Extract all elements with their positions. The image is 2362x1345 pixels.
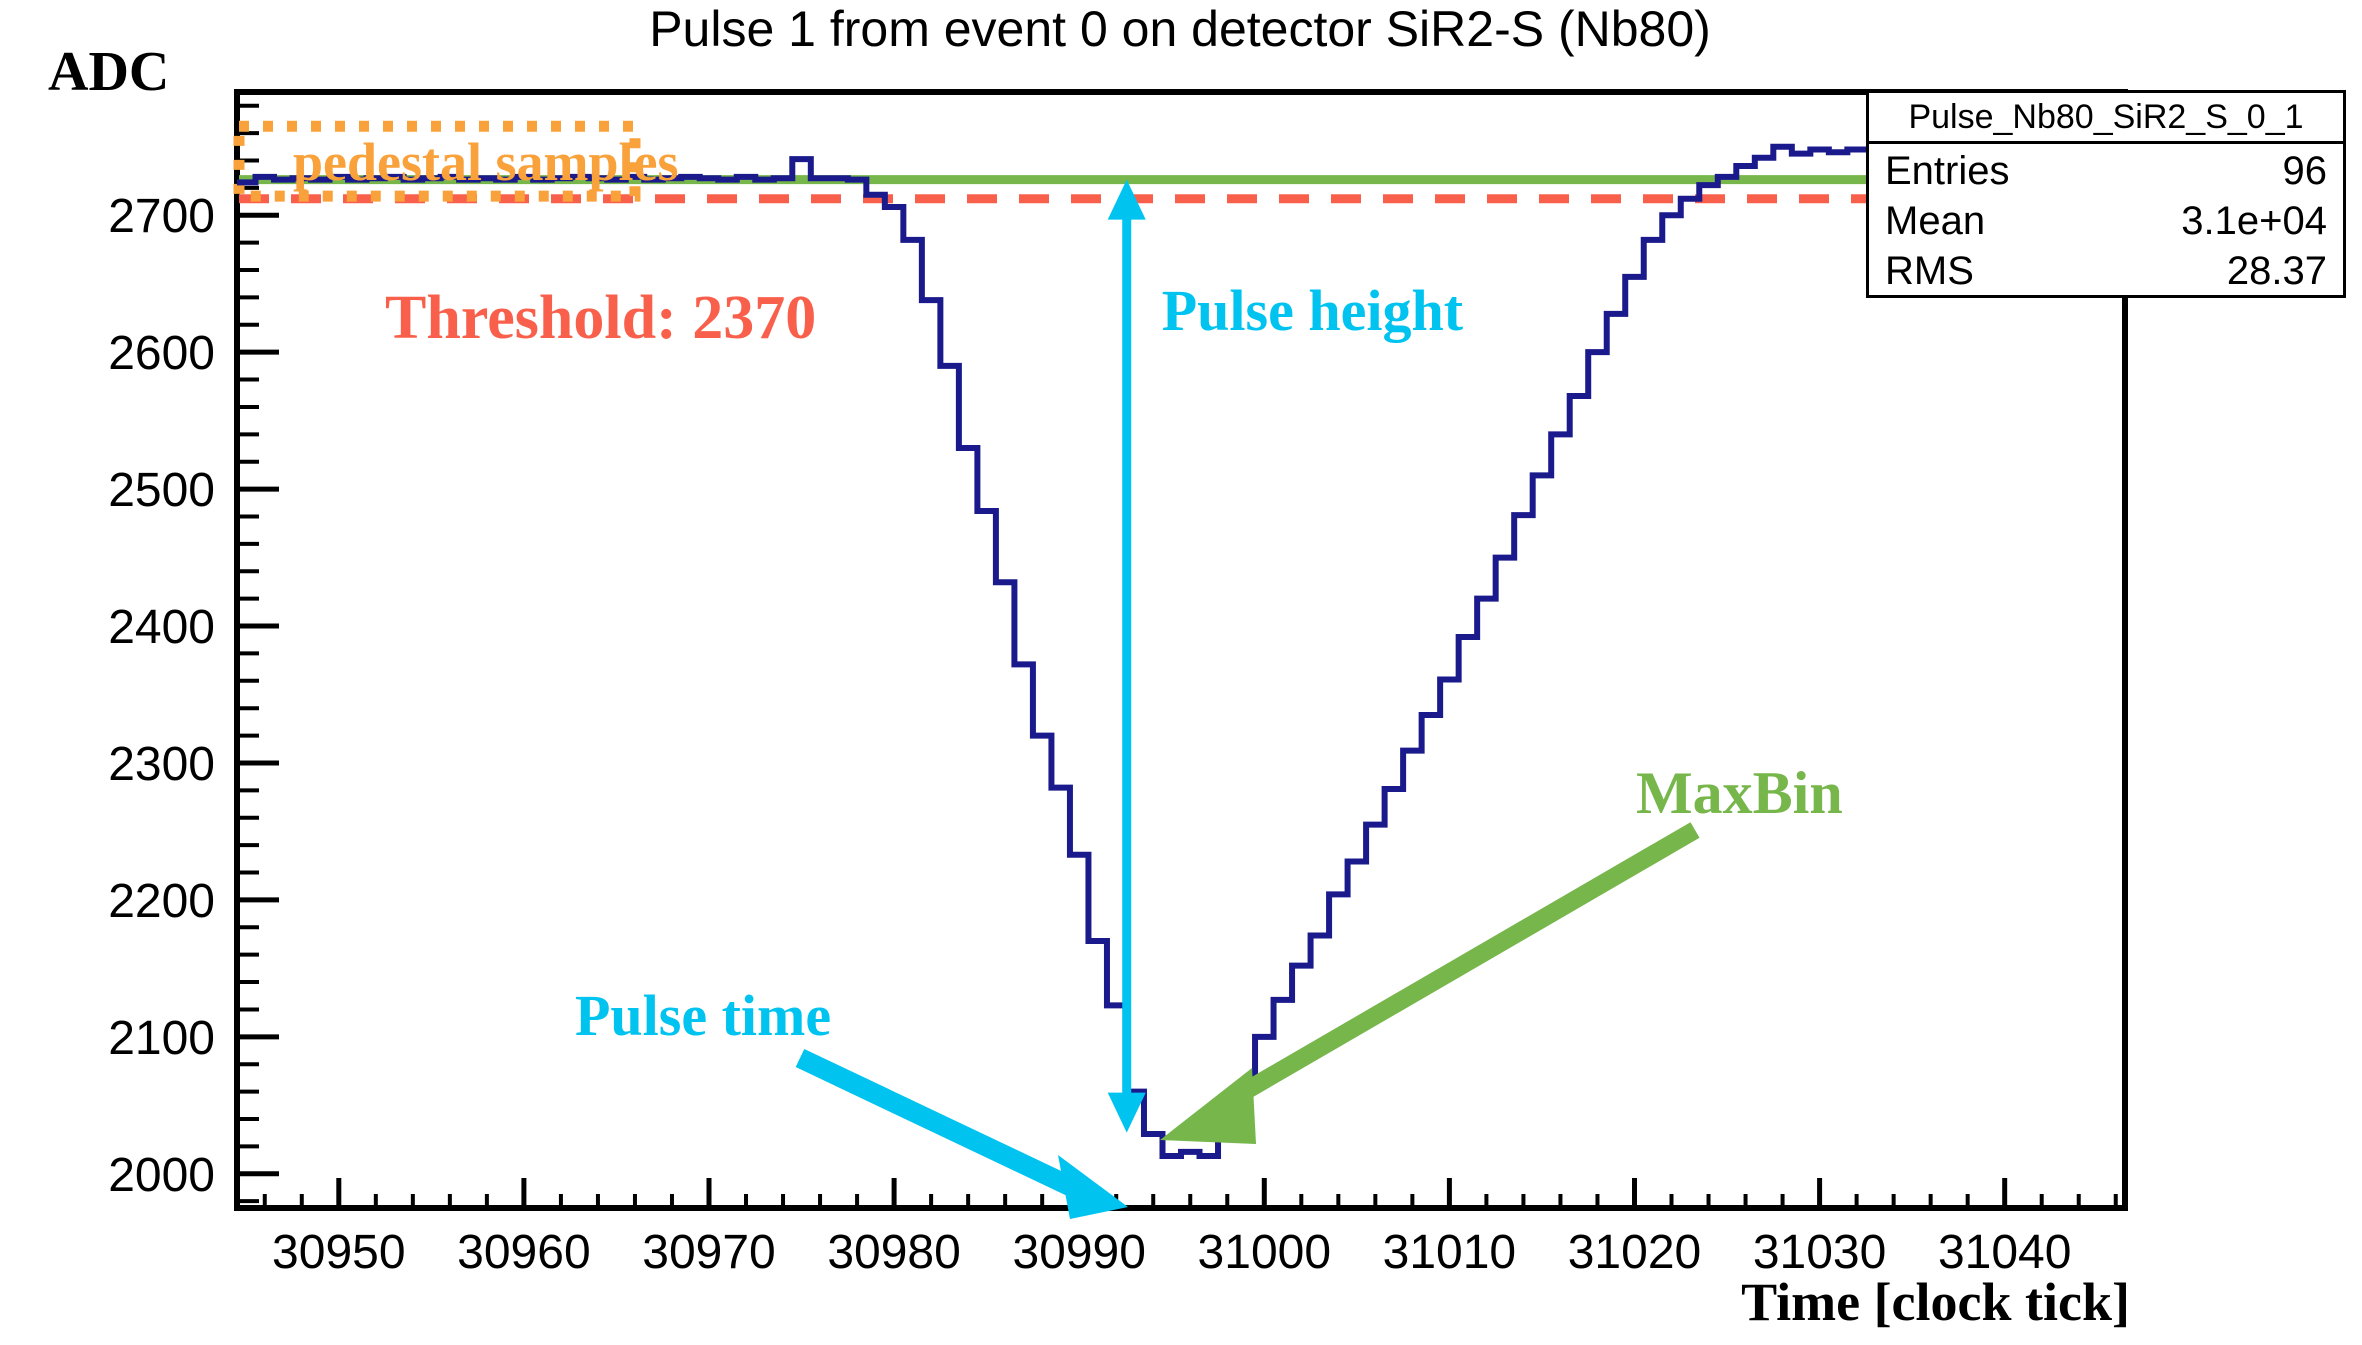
y-tick-label: 2100 <box>108 1012 215 1065</box>
x-tick-label: 30950 <box>272 1226 405 1279</box>
stats-row-label: Entries <box>1885 149 2010 194</box>
stats-row-value: 96 <box>2283 149 2328 194</box>
pulse-time-label: Pulse time <box>575 983 831 1048</box>
plot-frame <box>237 92 2125 1208</box>
stats-box: Pulse_Nb80_SiR2_S_0_1 Entries96Mean3.1e+… <box>1866 90 2346 298</box>
x-axis-title: Time [clock tick] <box>1741 1272 2130 1332</box>
plot-content: 3095030960309703098030990310003101031020… <box>108 92 2125 1279</box>
stats-rows: Entries96Mean3.1e+04RMS28.37 <box>1869 144 2343 296</box>
root-canvas: Pulse 1 from event 0 on detector SiR2-S … <box>0 0 2362 1345</box>
x-tick-label: 31030 <box>1753 1226 1886 1279</box>
stats-row: RMS28.37 <box>1881 246 2333 296</box>
y-tick-label: 2000 <box>108 1149 215 1202</box>
x-tick-label: 31040 <box>1938 1226 2071 1279</box>
x-tick-label: 30970 <box>642 1226 775 1279</box>
y-axis-title: ADC <box>48 41 169 103</box>
pulse-height-arrow-down <box>1108 1093 1146 1133</box>
pulse-time-arrow-shaft <box>800 1058 1080 1191</box>
y-tick-label: 2300 <box>108 738 215 791</box>
x-tick-label: 31000 <box>1198 1226 1331 1279</box>
y-tick-label: 2200 <box>108 875 215 928</box>
y-tick-label: 2600 <box>108 327 215 380</box>
stats-row: Mean3.1e+04 <box>1881 196 2333 246</box>
y-tick-label: 2700 <box>108 190 215 243</box>
maxbin-label: MaxBin <box>1636 760 1843 826</box>
pulse-height-label: Pulse height <box>1162 278 1464 343</box>
stats-row-label: RMS <box>1885 249 1974 294</box>
y-tick-label: 2400 <box>108 601 215 654</box>
x-tick-label: 30980 <box>827 1226 960 1279</box>
pedestal-samples-label: pedestal samples <box>293 132 679 192</box>
x-tick-label: 31010 <box>1383 1226 1516 1279</box>
stats-row: Entries96 <box>1881 146 2333 196</box>
maxbin-arrow-head <box>1160 1068 1256 1144</box>
stats-row-value: 28.37 <box>2227 249 2327 294</box>
y-tick-label: 2500 <box>108 464 215 517</box>
x-tick-label: 30990 <box>1012 1226 1145 1279</box>
threshold-label: Threshold: 2370 <box>385 284 816 352</box>
x-tick-label: 31020 <box>1568 1226 1701 1279</box>
x-tick-label: 30960 <box>457 1226 590 1279</box>
stats-histogram-name: Pulse_Nb80_SiR2_S_0_1 <box>1908 98 2303 137</box>
stats-row-label: Mean <box>1885 199 1985 244</box>
stats-row-value: 3.1e+04 <box>2181 199 2327 244</box>
plot-title: Pulse 1 from event 0 on detector SiR2-S … <box>649 1 1711 57</box>
